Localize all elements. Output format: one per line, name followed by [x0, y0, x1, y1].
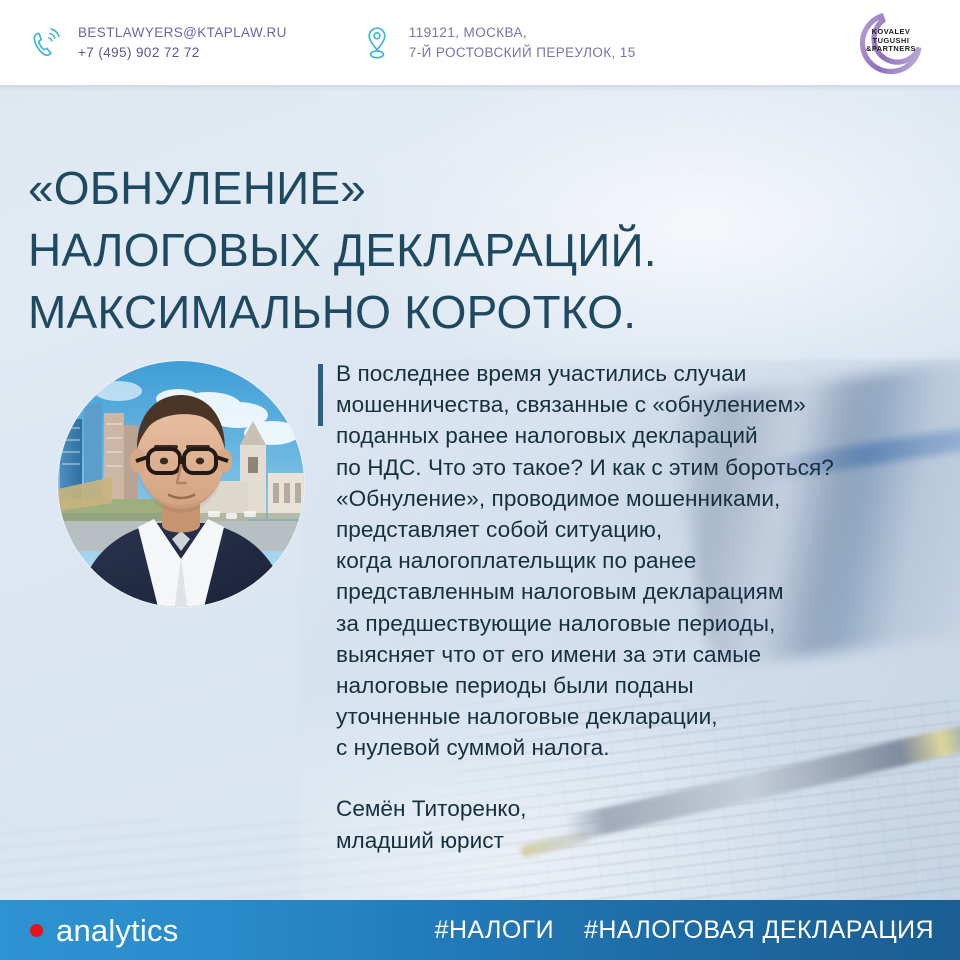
email-text[interactable]: BESTLAWYERS@KTAPLAW.RU: [78, 26, 287, 40]
lawyer-portrait: [58, 361, 304, 607]
contact-phone-lines: BESTLAWYERS@KTAPLAW.RU +7 (495) 902 72 7…: [78, 26, 287, 60]
company-logo[interactable]: KOVALEV TUGUSHI &PARTNERS: [848, 10, 934, 76]
body-line: «Обнуление», проводимое мошенниками,: [336, 483, 944, 514]
article-body: В последнее время участились случаи моше…: [336, 358, 944, 764]
red-dot-icon: [30, 924, 43, 937]
header-divider: [0, 85, 960, 91]
body-line: уточненные налоговые декларации,: [336, 701, 944, 732]
body-line: по НДС. Что это такое? И как с этим боро…: [336, 452, 944, 483]
hashtag-list: #НАЛОГИ #НАЛОГОВАЯ ДЕКЛАРАЦИЯ: [435, 918, 934, 943]
headline-line-1: «ОБНУЛЕНИЕ»: [28, 157, 928, 219]
contact-address-lines: 119121, МОСКВА, 7-Й РОСТОВСКИЙ ПЕРЕУЛОК,…: [409, 26, 636, 60]
author-role: младший юрист: [336, 825, 526, 857]
hashtag-item[interactable]: #НАЛОГОВАЯ ДЕКЛАРАЦИЯ: [584, 918, 934, 943]
body-line: с нулевой суммой налога.: [336, 732, 944, 763]
category-label[interactable]: analytics: [56, 915, 178, 946]
body-paragraph: В последнее время участились случаи моше…: [336, 358, 944, 764]
text-accent-bar: [318, 364, 323, 426]
address-line-2: 7-Й РОСТОВСКИЙ ПЕРЕУЛОК, 15: [409, 46, 636, 60]
author-name: Семён Титоренко,: [336, 793, 526, 825]
contact-phone-block[interactable]: BESTLAWYERS@KTAPLAW.RU +7 (495) 902 72 7…: [28, 24, 287, 62]
logo-line-3: &PARTNERS: [866, 44, 916, 53]
body-line: представляет собой ситуацию,: [336, 514, 944, 545]
footer-bar: analytics #НАЛОГИ #НАЛОГОВАЯ ДЕКЛАРАЦИЯ: [0, 900, 960, 960]
page-title: «ОБНУЛЕНИЕ» НАЛОГОВЫХ ДЕКЛАРАЦИЙ. МАКСИМ…: [28, 157, 928, 343]
body-line: поданных ранее налоговых деклараций: [336, 420, 944, 451]
contact-address-block[interactable]: 119121, МОСКВА, 7-Й РОСТОВСКИЙ ПЕРЕУЛОК,…: [359, 24, 636, 62]
body-line: когда налогоплательщик по ранее: [336, 545, 944, 576]
social-post-card: BESTLAWYERS@KTAPLAW.RU +7 (495) 902 72 7…: [0, 0, 960, 960]
hashtag-item[interactable]: #НАЛОГИ: [435, 918, 554, 943]
body-line: налоговые периоды были поданы: [336, 670, 944, 701]
headline-line-3: МАКСИМАЛЬНО КОРОТКО.: [28, 281, 928, 343]
body-line: мошенничества, связанные с «обнулением»: [336, 389, 944, 420]
company-logo-text: KOVALEV TUGUSHI &PARTNERS: [860, 28, 922, 54]
contact-header: BESTLAWYERS@KTAPLAW.RU +7 (495) 902 72 7…: [0, 0, 960, 85]
address-line-1: 119121, МОСКВА,: [409, 26, 636, 40]
body-line: выясняет что от его имени за эти самые: [336, 639, 944, 670]
phone-ringing-icon: [28, 24, 64, 62]
headline-line-2: НАЛОГОВЫХ ДЕКЛАРАЦИЙ.: [28, 219, 928, 281]
phone-text[interactable]: +7 (495) 902 72 72: [78, 46, 287, 60]
map-pin-icon: [359, 24, 395, 62]
body-line: В последнее время участились случаи: [336, 358, 944, 389]
body-line: представленным налоговым декларациям: [336, 576, 944, 607]
author-byline: Семён Титоренко, младший юрист: [336, 793, 526, 856]
body-line: за предшествующие налоговые периоды,: [336, 608, 944, 639]
